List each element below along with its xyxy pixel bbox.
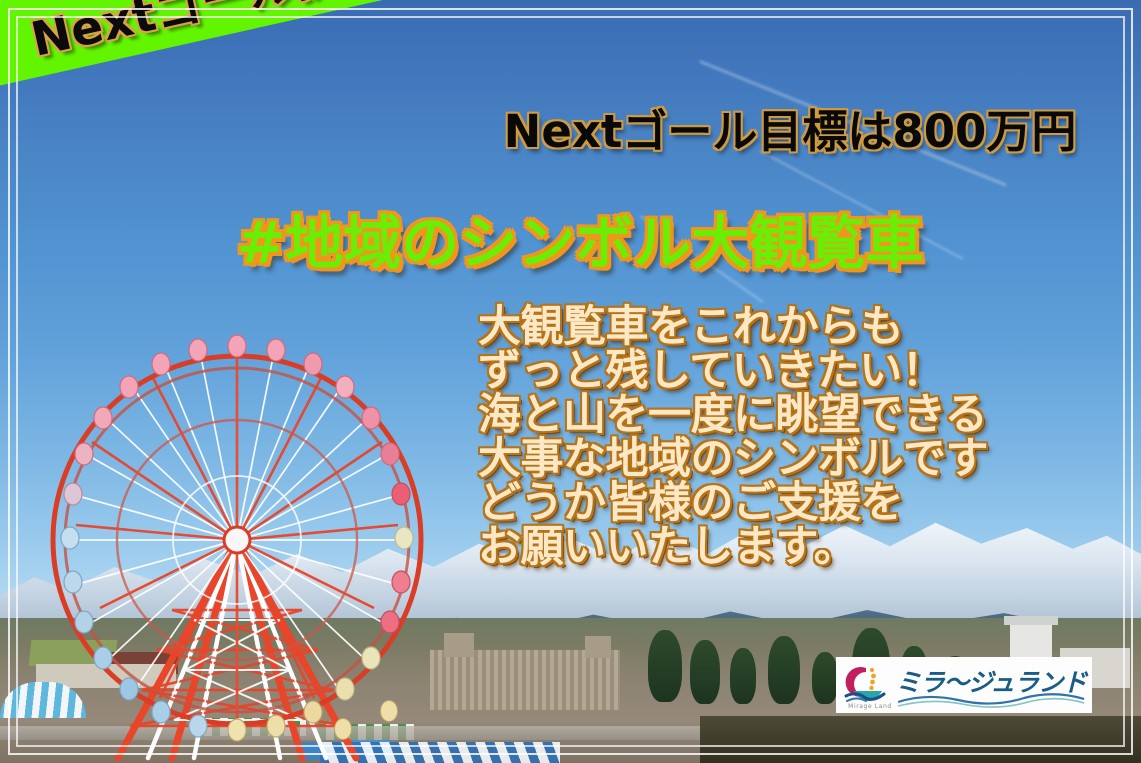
body-copy-line: 大観覧車をこれからも [478,305,1098,349]
body-copy-block: 大観覧車をこれからも ずっと残していきたい！ 海と山を一度に眺望できる 大事な地… [478,305,1098,569]
mirage-land-wordmark-wrap: ミラ〜ジュランド [896,660,1086,710]
tree [730,648,756,704]
body-copy-line: 海と山を一度に眺望できる [478,393,1098,437]
mirage-land-logo-mark: Mirage Land [842,660,896,710]
park-gondola [380,700,398,722]
body-copy-line: 大事な地域のシンボルです [478,437,1098,481]
hashtag-title: #地域のシンボル大観覧車 [150,196,1010,280]
logo-wave-underline [896,690,1086,708]
mirage-land-logo-subtitle: Mirage Land [844,703,896,710]
tree [768,636,800,704]
ferris-wheel [22,290,452,760]
tree [812,652,838,704]
foreground-hedge [700,716,1141,763]
tree [648,630,682,702]
body-copy-line: お願いいたします。 [478,525,1098,569]
fort-tower-right [585,636,611,658]
building-tower-roof [1004,616,1058,625]
tree [690,640,720,704]
mirage-land-logo: Mirage Land ミラ〜ジュランド [836,657,1092,713]
wooden-fort [430,650,620,710]
park-gondola [334,718,352,740]
body-copy-line: どうか皆様のご支援を [478,481,1098,525]
goal-amount-headline: Nextゴール目標は800万円 [460,95,1120,160]
body-copy-line: ずっと残していきたい！ [478,349,1098,393]
poster-image: Nextゴール挑戦中! Nextゴール目標は800万円 #地域のシンボル大観覧車… [0,0,1141,763]
